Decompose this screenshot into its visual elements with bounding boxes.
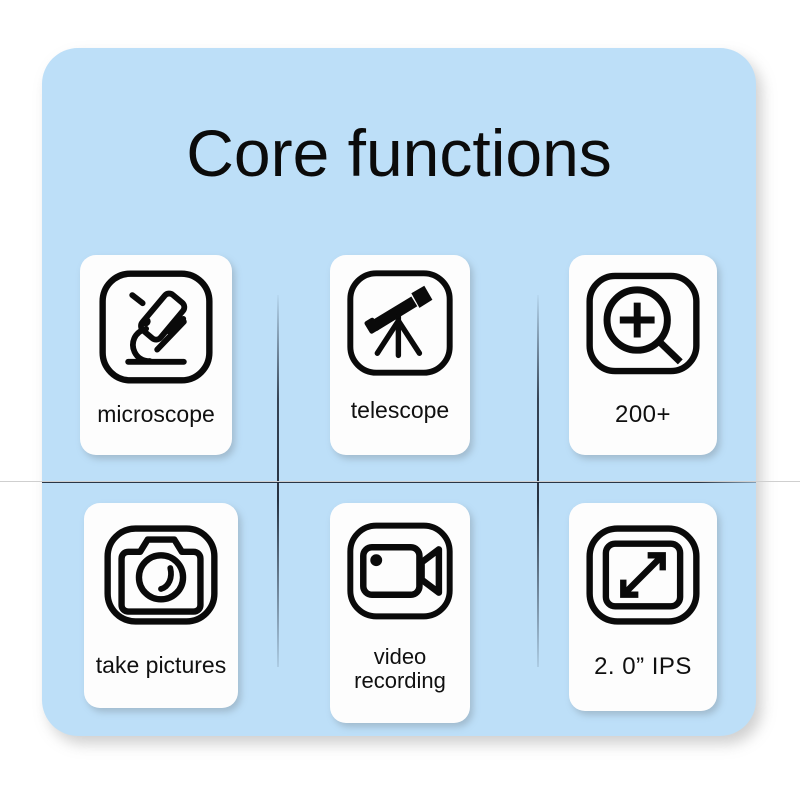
telescope-icon	[346, 269, 454, 377]
infographic-root: Core functions microscope	[0, 0, 800, 800]
feature-label: 2. 0” IPS	[569, 633, 717, 711]
screen-size-icon	[585, 517, 701, 633]
feature-label: video recording	[330, 625, 470, 723]
video-camera-icon	[346, 517, 454, 625]
feature-label: microscope	[80, 385, 232, 455]
feature-card-microscope[interactable]: microscope	[80, 255, 232, 455]
feature-card-display[interactable]: 2. 0” IPS	[569, 503, 717, 711]
zoom-in-icon	[585, 269, 701, 385]
camera-icon	[103, 517, 219, 633]
feature-card-telescope[interactable]: telescope	[330, 255, 470, 455]
microscope-icon	[98, 269, 214, 385]
feature-card-take-pictures[interactable]: take pictures	[84, 503, 238, 708]
divider-horizontal	[42, 481, 756, 483]
page-title: Core functions	[42, 120, 756, 186]
feature-card-video-recording[interactable]: video recording	[330, 503, 470, 723]
feature-label: 200+	[569, 385, 717, 455]
feature-label: telescope	[330, 377, 470, 455]
feature-label: take pictures	[84, 633, 238, 708]
feature-card-magnification[interactable]: 200+	[569, 255, 717, 455]
